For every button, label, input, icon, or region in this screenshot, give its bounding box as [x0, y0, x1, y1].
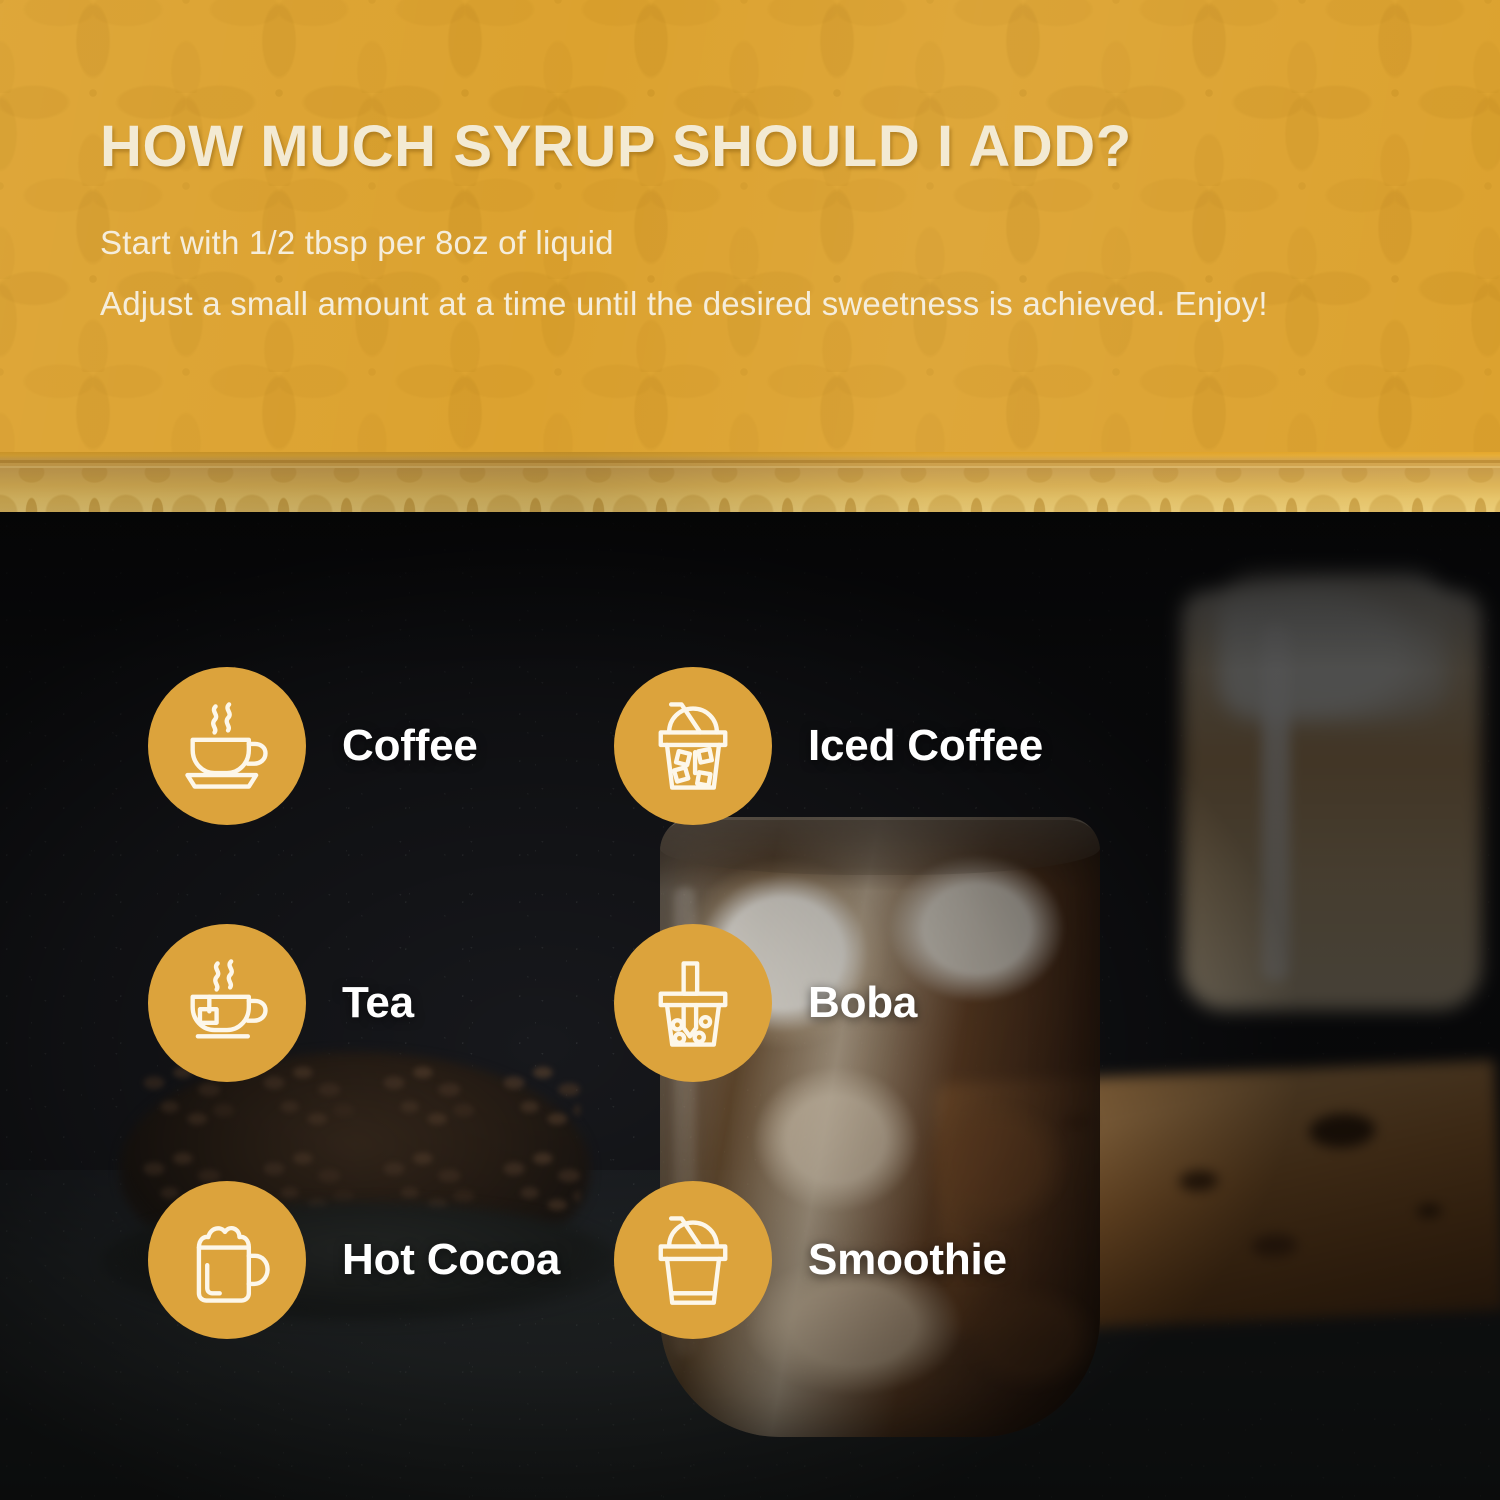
syrup-instructions-poster: HOW MUCH SYRUP SHOULD I ADD? Start with … — [0, 0, 1500, 1500]
strip-shadow-veil — [0, 452, 1500, 512]
beverage-label: Iced Coffee — [808, 721, 1043, 771]
beverage-item-tea[interactable]: Tea — [148, 924, 414, 1082]
beverage-list: Coffee Iced Coffee — [0, 512, 1500, 1500]
beverage-item-boba[interactable]: Boba — [614, 924, 917, 1082]
instruction-line-1: Start with 1/2 tbsp per 8oz of liquid — [100, 224, 1430, 262]
beverage-item-smoothie[interactable]: Smoothie — [614, 1181, 1007, 1339]
beverage-label: Smoothie — [808, 1235, 1007, 1285]
smoothie-cup-icon — [614, 1181, 772, 1339]
beverage-label: Boba — [808, 978, 917, 1028]
beverage-item-iced-coffee[interactable]: Iced Coffee — [614, 667, 1043, 825]
header-banner: HOW MUCH SYRUP SHOULD I ADD? Start with … — [0, 0, 1500, 452]
header-text-block: HOW MUCH SYRUP SHOULD I ADD? Start with … — [100, 118, 1430, 323]
beverage-label: Tea — [342, 978, 414, 1028]
beverage-label: Hot Cocoa — [342, 1235, 560, 1285]
page-title: HOW MUCH SYRUP SHOULD I ADD? — [100, 118, 1430, 176]
beverage-label: Coffee — [342, 721, 478, 771]
beverage-item-coffee[interactable]: Coffee — [148, 667, 478, 825]
hot-coffee-cup-icon — [148, 667, 306, 825]
tea-cup-icon — [148, 924, 306, 1082]
iced-coffee-cup-icon — [614, 667, 772, 825]
decorative-border-strip — [0, 452, 1500, 512]
boba-cup-icon — [614, 924, 772, 1082]
instruction-line-2: Adjust a small amount at a time until th… — [100, 285, 1430, 323]
cocoa-mug-icon — [148, 1181, 306, 1339]
beverage-item-hot-cocoa[interactable]: Hot Cocoa — [148, 1181, 560, 1339]
